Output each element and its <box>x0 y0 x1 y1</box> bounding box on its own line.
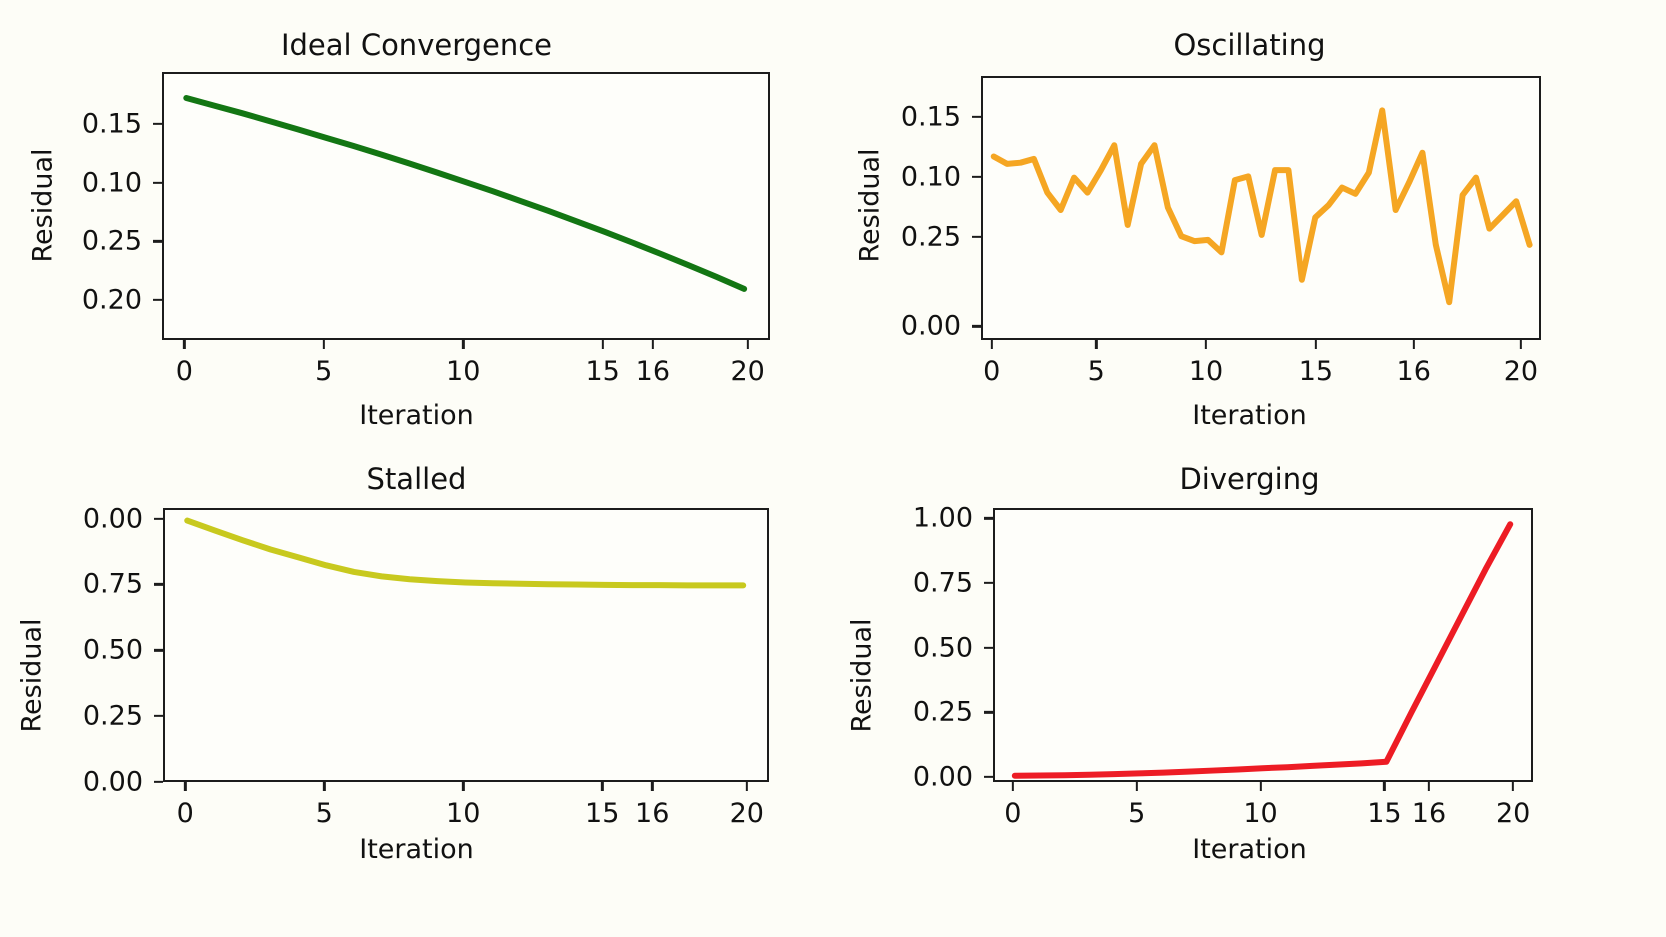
x-tick-label: 20 <box>1496 798 1530 829</box>
x-tick-mark <box>1136 782 1138 791</box>
y-tick-mark <box>972 325 981 327</box>
y-tick-label: 0.00 <box>838 761 973 792</box>
y-tick-label: 0.50 <box>838 632 973 663</box>
y-tick-mark <box>153 181 162 183</box>
data-line <box>1015 524 1510 776</box>
plot-area <box>981 76 1541 340</box>
x-tick-label: 5 <box>316 798 333 829</box>
x-tick-mark <box>1012 782 1014 791</box>
x-tick-label: 15 <box>585 356 619 387</box>
y-tick-mark <box>154 649 163 651</box>
y-tick-mark <box>984 776 993 778</box>
x-tick-mark <box>991 340 993 349</box>
y-tick-label: 0.00 <box>8 503 143 534</box>
plot-area <box>163 508 769 782</box>
x-tick-mark <box>747 340 749 349</box>
y-tick-mark <box>153 123 162 125</box>
x-tick-label: 5 <box>1088 356 1105 387</box>
x-tick-mark <box>746 782 748 791</box>
x-axis-label: Iteration <box>833 834 1666 865</box>
y-tick-mark <box>972 116 981 118</box>
x-tick-mark <box>462 340 464 349</box>
x-tick-mark <box>1259 782 1261 791</box>
x-tick-label: 20 <box>731 356 765 387</box>
y-tick-mark <box>984 517 993 519</box>
x-tick-mark <box>1205 340 1207 349</box>
x-tick-label: 10 <box>446 356 480 387</box>
x-tick-label: 0 <box>176 356 193 387</box>
x-tick-label: 20 <box>730 798 764 829</box>
y-tick-mark <box>984 582 993 584</box>
data-line <box>187 521 743 586</box>
x-tick-label: 16 <box>1412 798 1446 829</box>
subplot-ideal-convergence: Ideal Convergence Residual 0.150.100.250… <box>0 0 833 468</box>
x-tick-mark <box>601 782 603 791</box>
y-tick-label: 1.00 <box>838 503 973 534</box>
x-tick-label: 10 <box>446 798 480 829</box>
subplot-stalled: Stalled Residual 0.000.750.500.250.00051… <box>0 460 833 937</box>
y-tick-mark <box>154 781 163 783</box>
y-tick-label: 0.50 <box>8 635 143 666</box>
y-tick-mark <box>154 583 163 585</box>
y-tick-mark <box>153 299 162 301</box>
data-line <box>994 110 1530 302</box>
x-tick-label: 16 <box>636 356 670 387</box>
y-tick-mark <box>984 646 993 648</box>
x-tick-mark <box>184 782 186 791</box>
subplot-diverging: Diverging Residual 1.000.750.500.250.000… <box>833 460 1666 937</box>
x-tick-mark <box>1413 340 1415 349</box>
x-tick-label: 15 <box>1367 798 1401 829</box>
x-tick-mark <box>1095 340 1097 349</box>
x-tick-mark <box>602 340 604 349</box>
x-tick-label: 0 <box>177 798 194 829</box>
figure-canvas: Ideal Convergence Residual 0.150.100.250… <box>0 0 1666 937</box>
x-tick-label: 0 <box>983 356 1000 387</box>
x-tick-mark <box>1428 782 1430 791</box>
y-tick-label: 0.20 <box>7 285 142 316</box>
y-tick-mark <box>154 517 163 519</box>
x-tick-mark <box>652 340 654 349</box>
data-line <box>186 98 744 289</box>
y-tick-label: 0.10 <box>7 167 142 198</box>
x-axis-label: Iteration <box>0 400 833 431</box>
y-tick-mark <box>972 235 981 237</box>
x-tick-label: 5 <box>1128 798 1145 829</box>
x-tick-label: 15 <box>1299 356 1333 387</box>
y-tick-label: 0.25 <box>838 697 973 728</box>
y-tick-label: 0.00 <box>8 767 143 798</box>
subplot-title: Diverging <box>833 462 1666 496</box>
subplot-oscillating: Oscillating Residual 0.150.100.250.00051… <box>833 0 1666 468</box>
x-tick-mark <box>323 782 325 791</box>
y-tick-label: 0.10 <box>826 161 961 192</box>
y-tick-label: 0.15 <box>826 102 961 133</box>
y-tick-mark <box>984 711 993 713</box>
x-tick-label: 20 <box>1504 356 1538 387</box>
subplot-title: Ideal Convergence <box>0 28 833 62</box>
x-tick-mark <box>1520 340 1522 349</box>
y-tick-mark <box>154 715 163 717</box>
y-tick-label: 0.75 <box>8 569 143 600</box>
x-tick-mark <box>1315 340 1317 349</box>
x-tick-mark <box>183 340 185 349</box>
x-axis-label: Iteration <box>0 834 833 865</box>
x-tick-label: 10 <box>1189 356 1223 387</box>
y-tick-label: 0.25 <box>8 701 143 732</box>
plot-area <box>993 508 1533 782</box>
x-tick-mark <box>1383 782 1385 791</box>
y-tick-label: 0.75 <box>838 567 973 598</box>
x-tick-mark <box>462 782 464 791</box>
y-tick-mark <box>972 176 981 178</box>
subplot-title: Oscillating <box>833 28 1666 62</box>
y-tick-label: 0.00 <box>826 311 961 342</box>
x-tick-label: 16 <box>635 798 669 829</box>
y-tick-label: 0.25 <box>826 221 961 252</box>
y-tick-mark <box>153 240 162 242</box>
subplot-title: Stalled <box>0 462 833 496</box>
x-tick-label: 10 <box>1243 798 1277 829</box>
x-tick-mark <box>651 782 653 791</box>
x-tick-mark <box>1512 782 1514 791</box>
x-tick-label: 15 <box>585 798 619 829</box>
x-axis-label: Iteration <box>833 400 1666 431</box>
x-tick-label: 5 <box>315 356 332 387</box>
x-tick-mark <box>323 340 325 349</box>
y-tick-label: 0.15 <box>7 108 142 139</box>
y-tick-label: 0.25 <box>7 226 142 257</box>
x-tick-label: 0 <box>1004 798 1021 829</box>
plot-area <box>162 72 770 340</box>
x-tick-label: 16 <box>1397 356 1431 387</box>
